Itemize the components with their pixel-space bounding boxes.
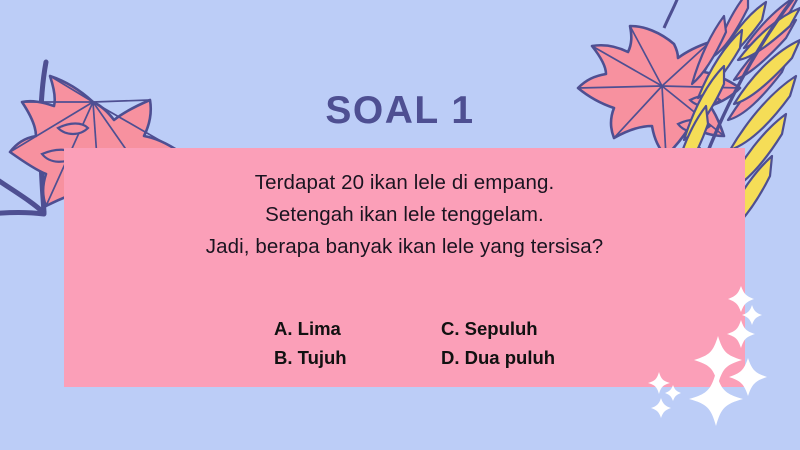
- option-d[interactable]: D. Dua puluh: [441, 343, 555, 372]
- question-panel: Terdapat 20 ikan lele di empang. Setenga…: [64, 148, 745, 387]
- option-row-1: A. Lima C. Sepuluh: [274, 314, 614, 343]
- option-row-2: B. Tujuh D. Dua puluh: [274, 343, 614, 372]
- top-left-stem-group: [0, 62, 46, 214]
- question-line-3: Jadi, berapa banyak ikan lele yang tersi…: [64, 231, 745, 263]
- sparkle-icon: [742, 305, 762, 325]
- question-line-2: Setengah ikan lele tenggelam.: [64, 199, 745, 231]
- option-c[interactable]: C. Sepuluh: [441, 314, 538, 343]
- question-line-1: Terdapat 20 ikan lele di empang.: [64, 167, 745, 199]
- sparkle-icon: [651, 398, 671, 418]
- page-title: SOAL 1: [0, 89, 800, 133]
- sparkle-icon: [665, 385, 681, 401]
- question-text: Terdapat 20 ikan lele di empang. Setenga…: [64, 167, 745, 263]
- answer-options: A. Lima C. Sepuluh B. Tujuh D. Dua puluh: [274, 314, 614, 372]
- slide-canvas: SOAL 1 Terdapat 20 ikan lele di empang. …: [0, 0, 800, 450]
- option-b[interactable]: B. Tujuh: [274, 343, 347, 372]
- option-a[interactable]: A. Lima: [274, 314, 341, 343]
